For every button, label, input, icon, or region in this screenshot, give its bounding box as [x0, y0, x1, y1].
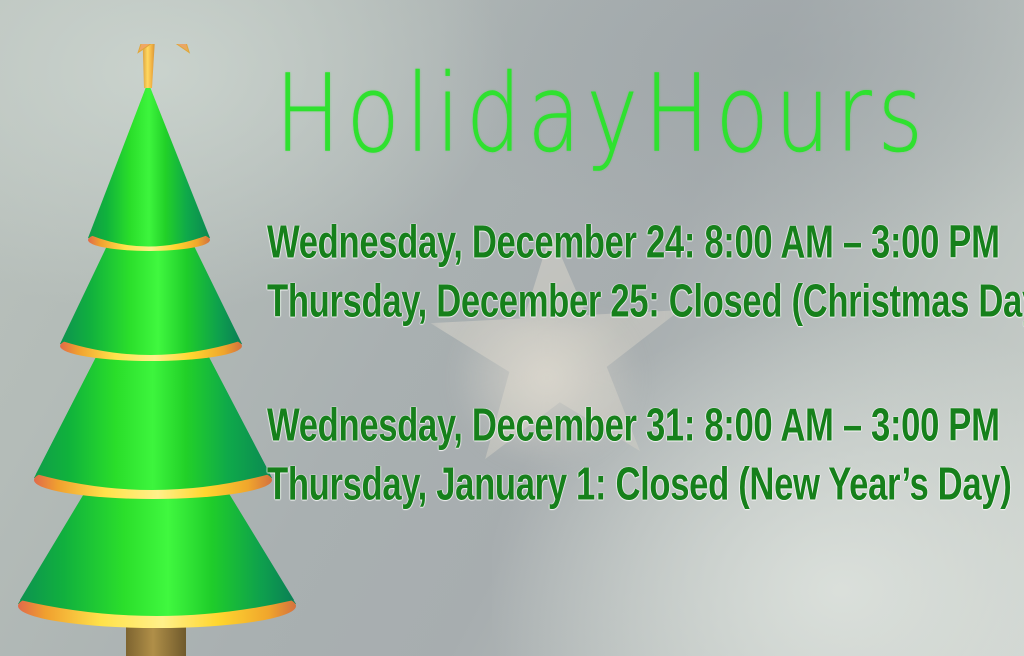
schedule-line: Thursday, December 25: Closed (Christmas… [267, 268, 884, 334]
schedule-line: Thursday, January 1: Closed (New Year’s … [267, 451, 884, 517]
star-topper-icon [123, 44, 205, 52]
holiday-hours-poster: HolidayHours Wednesday, December 24: 8:0… [0, 0, 1024, 656]
page-title: HolidayHours [275, 58, 990, 170]
schedule-block-new-year: Wednesday, December 31: 8:00 AM – 3:00 P… [267, 396, 997, 514]
schedule-line: Wednesday, December 31: 8:00 AM – 3:00 P… [267, 392, 884, 458]
schedule-block-christmas: Wednesday, December 24: 8:00 AM – 3:00 P… [267, 213, 997, 331]
tree-spire [142, 44, 156, 88]
schedule-line: Wednesday, December 24: 8:00 AM – 3:00 P… [267, 209, 884, 275]
poster-text-content: HolidayHours Wednesday, December 24: 8:0… [267, 0, 997, 656]
